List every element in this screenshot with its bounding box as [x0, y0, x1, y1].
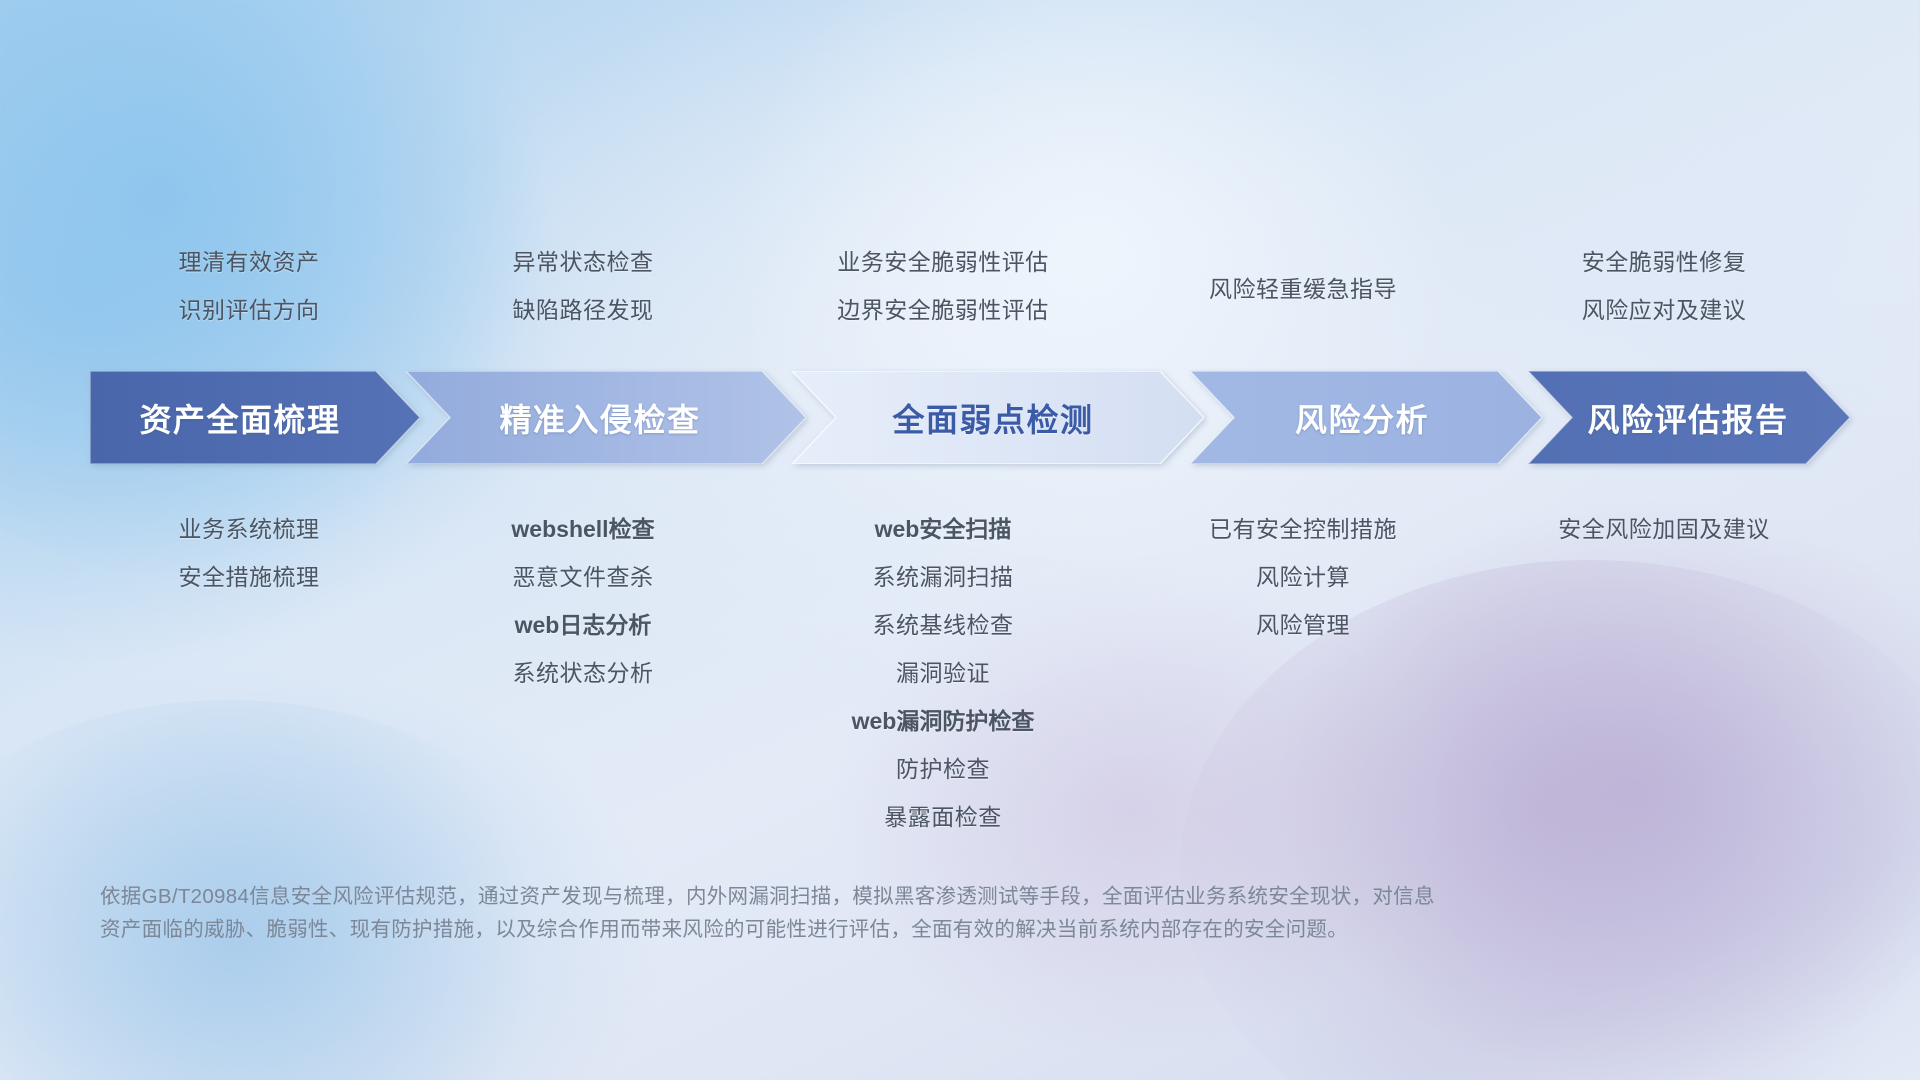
stage-arrow-5[interactable]: 风险评估报告: [1528, 371, 1850, 464]
list-item: 识别评估方向: [179, 291, 320, 325]
footer-description: 依据GB/T20984信息安全风险评估规范，通过资产发现与梳理，内外网漏洞扫描，…: [100, 880, 1720, 946]
list-item: webshell检查: [511, 510, 654, 544]
footer-line-2: 资产面临的威胁、脆弱性、现有防护措施，以及综合作用而带来风险的可能性进行评估，全…: [100, 913, 1720, 946]
stage-arrow-2-label: 精准入侵检查: [499, 395, 700, 441]
stage-4-top-list: 风险轻重缓急指导: [1128, 270, 1478, 304]
list-item: 恶意文件查杀: [513, 558, 654, 592]
list-item: 风险计算: [1256, 558, 1350, 592]
stage-5-top-list: 安全脆弱性修复 风险应对及建议: [1478, 243, 1850, 325]
list-item: 防护检查: [896, 750, 990, 784]
list-item: 缺陷路径发现: [513, 291, 654, 325]
list-item: 风险管理: [1256, 606, 1350, 640]
list-item: 系统漏洞扫描: [873, 558, 1014, 592]
stage-3-bottom-list: web安全扫描 系统漏洞扫描 系统基线检查 漏洞验证 web漏洞防护检查 防护检…: [758, 510, 1128, 832]
stage-1-bottom-list: 业务系统梳理 安全措施梳理: [90, 510, 408, 592]
stage-arrow-5-label: 风险评估报告: [1587, 395, 1788, 441]
list-item: 安全措施梳理: [179, 558, 320, 592]
list-item: 异常状态检查: [513, 243, 654, 277]
list-item: web安全扫描: [875, 510, 1012, 544]
list-item: 理清有效资产: [179, 243, 320, 277]
stage-5-bottom-list: 安全风险加固及建议: [1478, 510, 1850, 544]
list-item: web日志分析: [515, 606, 652, 640]
stage-3-top-list: 业务安全脆弱性评估 边界安全脆弱性评估: [758, 243, 1128, 325]
stage-arrow-4-label: 风险分析: [1295, 395, 1429, 441]
stage-2-top-list: 异常状态检查 缺陷路径发现: [408, 243, 758, 325]
list-item: 系统状态分析: [513, 654, 654, 688]
list-item: 业务安全脆弱性评估: [837, 243, 1049, 277]
list-item: web漏洞防护检查: [852, 702, 1035, 736]
stage-arrow-2[interactable]: 精准入侵检查: [406, 371, 806, 464]
stage-arrow-3-label: 全面弱点检测: [892, 395, 1093, 441]
process-arrow-banner: 资产全面梳理 精准入侵检查: [90, 371, 1850, 464]
stage-arrow-1[interactable]: 资产全面梳理: [90, 371, 420, 464]
stage-arrow-1-label: 资产全面梳理: [139, 395, 340, 441]
stage-4-bottom-list: 已有安全控制措施 风险计算 风险管理: [1128, 510, 1478, 640]
list-item: 安全风险加固及建议: [1558, 510, 1770, 544]
list-item: 漏洞验证: [896, 654, 990, 688]
list-item: 安全脆弱性修复: [1582, 243, 1747, 277]
list-item: 已有安全控制措施: [1209, 510, 1397, 544]
footer-line-1: 依据GB/T20984信息安全风险评估规范，通过资产发现与梳理，内外网漏洞扫描，…: [100, 880, 1720, 913]
list-item: 暴露面检查: [884, 798, 1002, 832]
list-item: 风险应对及建议: [1582, 291, 1747, 325]
list-item: 风险轻重缓急指导: [1209, 270, 1397, 304]
stage-1-top-list: 理清有效资产 识别评估方向: [90, 243, 408, 325]
stage-arrow-4[interactable]: 风险分析: [1190, 371, 1542, 464]
stage-arrow-3[interactable]: 全面弱点检测: [792, 371, 1204, 464]
list-item: 系统基线检查: [873, 606, 1014, 640]
list-item: 业务系统梳理: [179, 510, 320, 544]
stage-2-bottom-list: webshell检查 恶意文件查杀 web日志分析 系统状态分析: [408, 510, 758, 688]
list-item: 边界安全脆弱性评估: [837, 291, 1049, 325]
